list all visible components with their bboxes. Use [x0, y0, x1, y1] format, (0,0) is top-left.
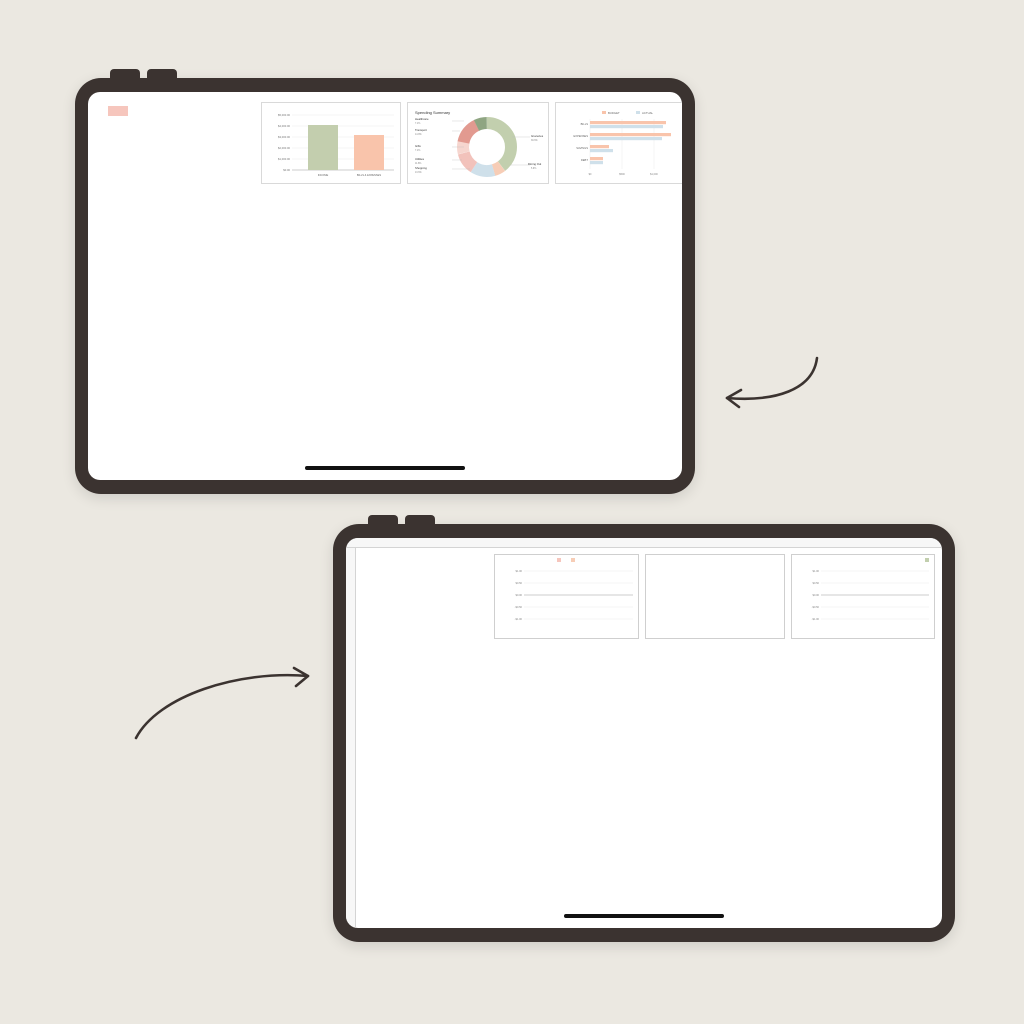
svg-text:$3,000.00: $3,000.00	[278, 135, 290, 139]
svg-text:SAVINGS: SAVINGS	[576, 146, 588, 150]
svg-text:$0: $0	[589, 173, 592, 176]
svg-text:INCOME: INCOME	[318, 173, 329, 177]
svg-text:11.8%: 11.8%	[415, 163, 421, 165]
svg-text:$0.50: $0.50	[813, 581, 820, 585]
svg-text:$1,000: $1,000	[650, 173, 658, 176]
svg-text:BILLS: BILLS	[581, 122, 589, 126]
svg-text:Shopping: Shopping	[415, 166, 427, 170]
tablet-january: $5,000.00$4,000.00 $3,000.00$2,000.00 $1…	[75, 78, 695, 494]
svg-text:EXPENSES: EXPENSES	[574, 134, 589, 138]
svg-text:$1.00: $1.00	[813, 569, 820, 573]
annotation-annual-overview	[22, 752, 312, 806]
chart-spending-summary: Spending Summary	[407, 102, 549, 184]
annual-content: $1.00$0.50 $0.00-$0.50-$1.00	[356, 548, 942, 928]
svg-text:$0.00: $0.00	[283, 168, 290, 172]
svg-text:$1.00: $1.00	[516, 569, 523, 573]
svg-text:DEBT: DEBT	[581, 158, 589, 162]
tablet2-button-top-left[interactable]	[368, 515, 398, 525]
svg-text:-$0.50: -$0.50	[515, 605, 523, 609]
svg-text:$1,000.00: $1,000.00	[278, 157, 290, 161]
svg-text:$0.00: $0.00	[813, 593, 820, 597]
tablet-button-top-right[interactable]	[147, 69, 177, 79]
expense-tracker-link[interactable]	[108, 106, 128, 116]
arrow-to-annual-tablet	[128, 660, 318, 740]
chart-annual-income-expenses: $1.00$0.50 $0.00-$0.50-$1.00	[494, 554, 639, 639]
svg-text:BUDGET: BUDGET	[608, 111, 620, 115]
svg-text:5.9%: 5.9%	[531, 168, 536, 170]
svg-text:-$0.50: -$0.50	[812, 605, 820, 609]
svg-text:Groceries: Groceries	[531, 134, 544, 138]
annotation-monthly-tabs	[716, 175, 978, 256]
svg-text:7.1%: 7.1%	[415, 150, 420, 152]
january-sheet-screen: $5,000.00$4,000.00 $3,000.00$2,000.00 $1…	[88, 92, 682, 480]
svg-text:Utilities: Utilities	[415, 157, 425, 161]
svg-text:-$1.00: -$1.00	[515, 617, 523, 621]
svg-text:$500: $500	[619, 173, 625, 176]
svg-text:ACTUAL: ACTUAL	[642, 111, 653, 115]
svg-text:Healthcare: Healthcare	[415, 117, 429, 121]
spreadsheet-row-headers	[346, 548, 356, 928]
chart-total-savings: $1.00$0.50 $0.00-$0.50-$1.00	[791, 554, 935, 639]
svg-text:-$1.00: -$1.00	[812, 617, 820, 621]
svg-text:39.6%: 39.6%	[531, 140, 538, 142]
spreadsheet-column-headers	[346, 538, 942, 548]
chart-income-vs-expenses: $5,000.00$4,000.00 $3,000.00$2,000.00 $1…	[261, 102, 401, 184]
svg-text:Spending Summary: Spending Summary	[415, 110, 450, 115]
tablet2-button-top-right[interactable]	[405, 515, 435, 525]
svg-text:$2,000.00: $2,000.00	[278, 146, 290, 150]
tablet-annual: $1.00$0.50 $0.00-$0.50-$1.00	[333, 524, 955, 942]
svg-text:Gifts: Gifts	[415, 144, 421, 148]
svg-text:7.1%: 7.1%	[415, 123, 420, 125]
arrow-to-january-tablet	[705, 350, 825, 410]
svg-text:14.8%: 14.8%	[415, 134, 422, 136]
svg-text:13.6%: 13.6%	[415, 172, 422, 174]
chart-budget-vs-actual: BUDGET ACTUAL BILL	[555, 102, 682, 184]
svg-text:$0.50: $0.50	[516, 581, 523, 585]
svg-text:Transport: Transport	[415, 128, 427, 132]
svg-text:$5,000.00: $5,000.00	[278, 113, 290, 117]
svg-text:$4,000.00: $4,000.00	[278, 124, 290, 128]
svg-text:BILLS & EXPENSES: BILLS & EXPENSES	[357, 173, 381, 177]
chart-annual-blank	[645, 554, 785, 639]
svg-text:$0.00: $0.00	[516, 593, 523, 597]
annual-sheet-screen: $1.00$0.50 $0.00-$0.50-$1.00	[346, 538, 942, 928]
svg-text:Dining Out: Dining Out	[528, 162, 541, 166]
home-indicator-january	[305, 466, 465, 470]
home-indicator-annual	[564, 914, 724, 918]
tablet-button-top-left[interactable]	[110, 69, 140, 79]
